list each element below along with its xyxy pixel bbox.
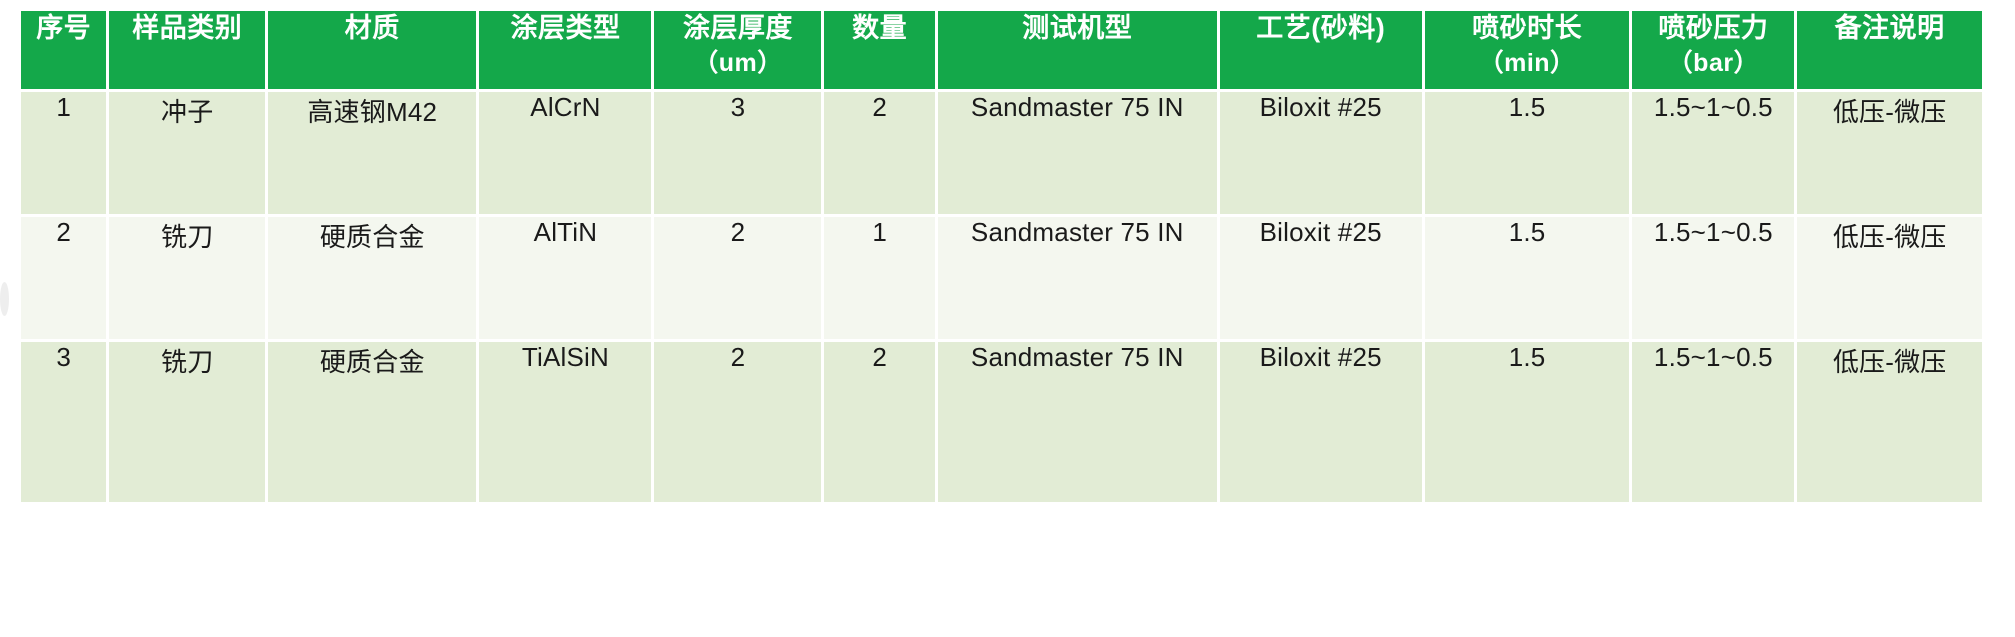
column-header-coating-type[interactable]: 涂层类型 bbox=[479, 11, 651, 89]
cell-test-machine[interactable]: Sandmaster 75 IN bbox=[938, 342, 1217, 502]
cell-remark[interactable]: 低压-微压 bbox=[1797, 92, 1982, 214]
cell-blast-pressure[interactable]: 1.5~1~0.5 bbox=[1632, 217, 1794, 339]
cell-index[interactable]: 3 bbox=[21, 342, 106, 502]
column-header-quantity[interactable]: 数量 bbox=[824, 11, 934, 89]
column-header-blast-pressure-label: 喷砂压力 bbox=[1658, 13, 1768, 43]
cell-blast-pressure[interactable]: 1.5~1~0.5 bbox=[1632, 92, 1794, 214]
cell-index[interactable]: 1 bbox=[21, 92, 106, 214]
column-header-test-machine-label: 测试机型 bbox=[1022, 13, 1132, 43]
table-body: 1 冲子 高速钢M42 AlCrN 3 2 Sandmaster 75 IN B… bbox=[21, 92, 1982, 502]
cell-blast-pressure[interactable]: 1.5~1~0.5 bbox=[1632, 342, 1794, 502]
cell-sample-category[interactable]: 铣刀 bbox=[109, 342, 265, 502]
cell-blast-time[interactable]: 1.5 bbox=[1425, 342, 1630, 502]
cell-material[interactable]: 硬质合金 bbox=[268, 217, 476, 339]
column-header-coating-thickness-unit: （um） bbox=[654, 46, 821, 81]
cell-process-media[interactable]: Biloxit #25 bbox=[1220, 342, 1422, 502]
cell-test-machine[interactable]: Sandmaster 75 IN bbox=[938, 92, 1217, 214]
cell-quantity[interactable]: 2 bbox=[824, 92, 934, 214]
sample-spec-table: 序号 样品类别 材质 涂层类型 涂层厚度 （um） 数量 bbox=[18, 8, 1985, 505]
cell-coating-type[interactable]: AlTiN bbox=[479, 217, 651, 339]
header-row: 序号 样品类别 材质 涂层类型 涂层厚度 （um） 数量 bbox=[21, 11, 1982, 89]
table-row[interactable]: 1 冲子 高速钢M42 AlCrN 3 2 Sandmaster 75 IN B… bbox=[21, 92, 1982, 214]
cell-process-media[interactable]: Biloxit #25 bbox=[1220, 217, 1422, 339]
cell-coating-type[interactable]: AlCrN bbox=[479, 92, 651, 214]
column-header-sample-category[interactable]: 样品类别 bbox=[109, 11, 265, 89]
cell-blast-time[interactable]: 1.5 bbox=[1425, 217, 1630, 339]
column-header-blast-pressure-unit: （bar） bbox=[1632, 46, 1794, 81]
column-header-remark[interactable]: 备注说明 bbox=[1797, 11, 1982, 89]
column-header-coating-thickness[interactable]: 涂层厚度 （um） bbox=[654, 11, 821, 89]
table-header: 序号 样品类别 材质 涂层类型 涂层厚度 （um） 数量 bbox=[21, 11, 1982, 89]
column-header-process-media[interactable]: 工艺(砂料) bbox=[1220, 11, 1422, 89]
column-header-blast-time-label: 喷砂时长 bbox=[1472, 13, 1582, 43]
cell-quantity[interactable]: 2 bbox=[824, 342, 934, 502]
column-header-index-label: 序号 bbox=[36, 13, 91, 43]
cell-coating-thickness[interactable]: 2 bbox=[654, 342, 821, 502]
cell-quantity[interactable]: 1 bbox=[824, 217, 934, 339]
column-header-coating-thickness-label: 涂层厚度 bbox=[683, 13, 793, 43]
cell-remark[interactable]: 低压-微压 bbox=[1797, 217, 1982, 339]
cell-sample-category[interactable]: 冲子 bbox=[109, 92, 265, 214]
cell-coating-type[interactable]: TiAlSiN bbox=[479, 342, 651, 502]
column-header-sample-category-label: 样品类别 bbox=[132, 13, 242, 43]
table-row[interactable]: 3 铣刀 硬质合金 TiAlSiN 2 2 Sandmaster 75 IN B… bbox=[21, 342, 1982, 502]
column-header-blast-pressure[interactable]: 喷砂压力 （bar） bbox=[1632, 11, 1794, 89]
column-header-material[interactable]: 材质 bbox=[268, 11, 476, 89]
column-header-blast-time-unit: （min） bbox=[1425, 46, 1630, 81]
cell-process-media[interactable]: Biloxit #25 bbox=[1220, 92, 1422, 214]
column-header-coating-type-label: 涂层类型 bbox=[510, 13, 620, 43]
cell-blast-time[interactable]: 1.5 bbox=[1425, 92, 1630, 214]
cell-test-machine[interactable]: Sandmaster 75 IN bbox=[938, 217, 1217, 339]
spreadsheet-canvas: 序号 样品类别 材质 涂层类型 涂层厚度 （um） 数量 bbox=[0, 0, 2015, 637]
cell-index[interactable]: 2 bbox=[21, 217, 106, 339]
cell-remark[interactable]: 低压-微压 bbox=[1797, 342, 1982, 502]
cell-coating-thickness[interactable]: 2 bbox=[654, 217, 821, 339]
cell-coating-thickness[interactable]: 3 bbox=[654, 92, 821, 214]
cell-material[interactable]: 高速钢M42 bbox=[268, 92, 476, 214]
column-header-remark-label: 备注说明 bbox=[1835, 13, 1945, 43]
column-header-quantity-label: 数量 bbox=[852, 13, 907, 43]
column-header-blast-time[interactable]: 喷砂时长 （min） bbox=[1425, 11, 1630, 89]
scan-artifact bbox=[0, 282, 9, 316]
column-header-index[interactable]: 序号 bbox=[21, 11, 106, 89]
column-header-test-machine[interactable]: 测试机型 bbox=[938, 11, 1217, 89]
table-row[interactable]: 2 铣刀 硬质合金 AlTiN 2 1 Sandmaster 75 IN Bil… bbox=[21, 217, 1982, 339]
cell-sample-category[interactable]: 铣刀 bbox=[109, 217, 265, 339]
column-header-process-media-label: 工艺(砂料) bbox=[1256, 13, 1385, 43]
cell-material[interactable]: 硬质合金 bbox=[268, 342, 476, 502]
column-header-material-label: 材质 bbox=[345, 13, 400, 43]
